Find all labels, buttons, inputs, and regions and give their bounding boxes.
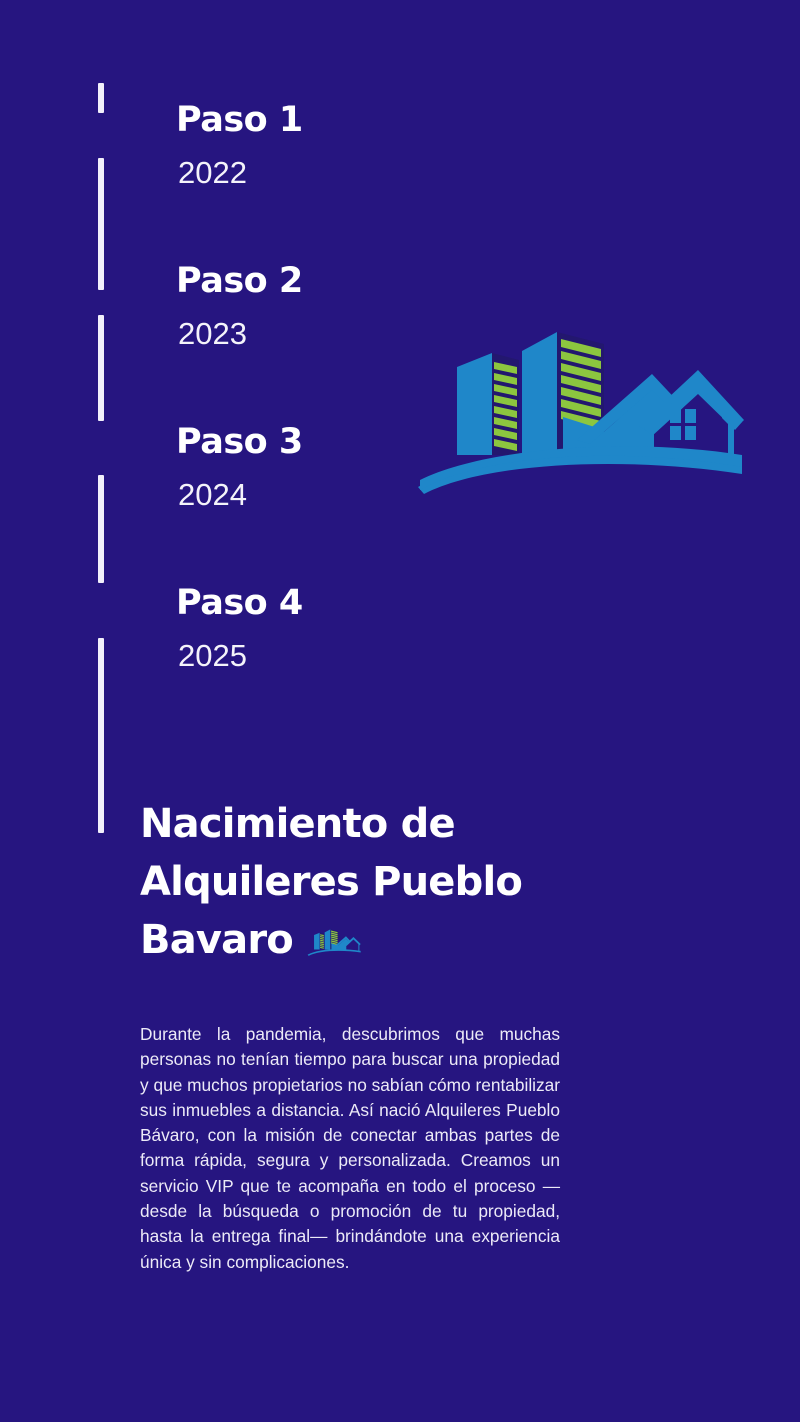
poster-canvas: Paso 1 2022 Paso 2 2023 Paso 3 2024 Paso…	[0, 0, 800, 1422]
timeline-step-2: Paso 2 2023	[176, 264, 303, 349]
timeline-step-1: Paso 1 2022	[176, 103, 303, 188]
timeline-step-1-title: Paso 1	[176, 103, 303, 138]
timeline-rail-segment-4	[98, 475, 104, 583]
body-paragraph: Durante la pandemia, descubrimos que muc…	[140, 1022, 560, 1275]
timeline-step-4-year: 2025	[178, 640, 303, 671]
buildings-and-house-illustration	[414, 322, 744, 497]
timeline-step-3-title: Paso 3	[176, 425, 303, 460]
headline-line-1: Nacimiento de	[140, 801, 455, 847]
timeline-step-2-title: Paso 2	[176, 264, 303, 299]
timeline-step-3: Paso 3 2024	[176, 425, 303, 510]
timeline-rail-segment-2	[98, 158, 104, 290]
headline-block: Nacimiento de Alquileres Pueblo Bavaro	[140, 795, 570, 969]
page-title: Nacimiento de Alquileres Pueblo Bavaro	[140, 795, 570, 969]
timeline-step-4-title: Paso 4	[176, 586, 303, 621]
timeline-rail-segment-1	[98, 83, 104, 113]
brand-logo-icon	[307, 915, 361, 945]
timeline-step-4: Paso 4 2025	[176, 586, 303, 671]
headline-line-2: Alquileres Pueblo	[140, 859, 522, 905]
timeline-rail-segment-5	[98, 638, 104, 833]
timeline-step-3-year: 2024	[178, 479, 303, 510]
timeline-step-1-year: 2022	[178, 157, 303, 188]
headline-line-3: Bavaro	[140, 917, 293, 963]
timeline-step-2-year: 2023	[178, 318, 303, 349]
timeline-rail-segment-3	[98, 315, 104, 421]
